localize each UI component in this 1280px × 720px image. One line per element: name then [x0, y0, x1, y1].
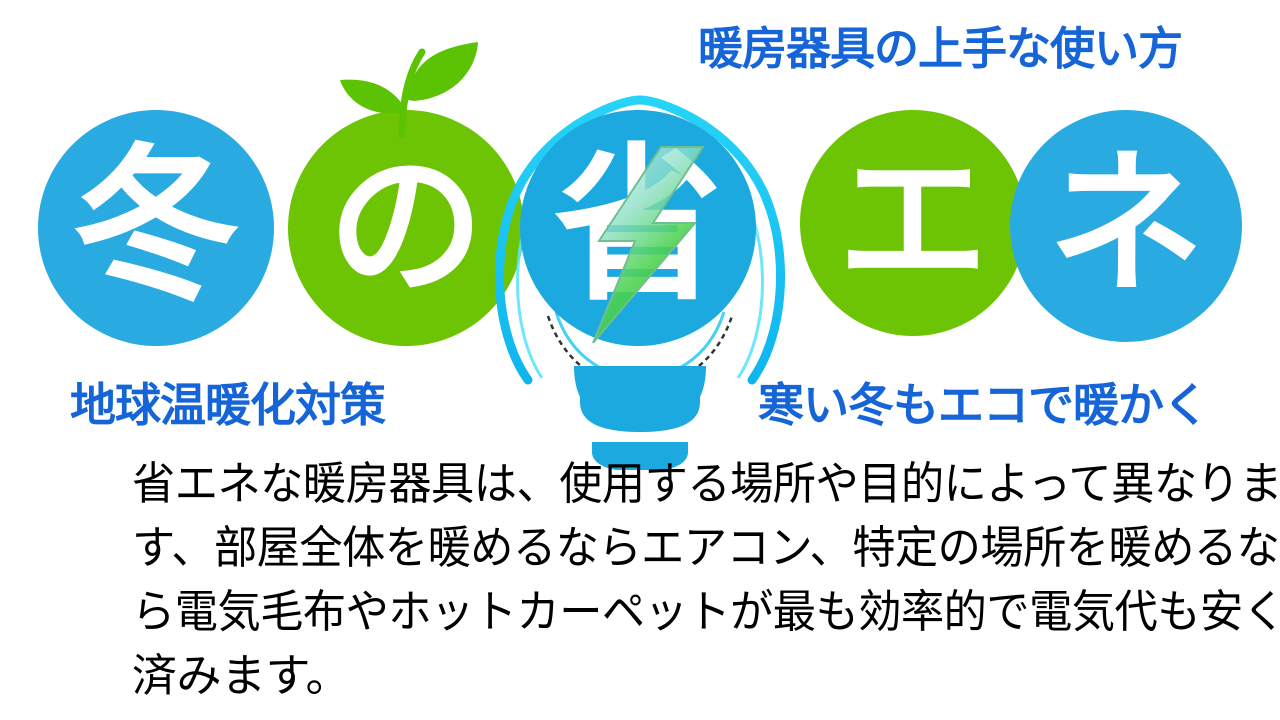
body-line-3: ら電気毛布やホットカーペットが最も効率的で電気代も安く	[132, 580, 1169, 644]
circle-ne-char: ネ	[1048, 146, 1204, 302]
body-paragraph: 省エネな暖房器具は、使用する場所や目的によって異なりま す、部屋全体を暖めるなら…	[132, 452, 1212, 708]
body-line-2: す、部屋全体を暖めるならエアコン、特定の場所を暖めるな	[132, 516, 1169, 580]
body-line-4: 済みます。	[132, 644, 1212, 708]
circle-sho: 省	[520, 110, 756, 346]
body-line-1: 省エネな暖房器具は、使用する場所や目的によって異なりま	[132, 452, 1169, 516]
circle-ne: ネ	[1010, 110, 1242, 342]
poster-canvas: 暖房器具の上手な使い方 冬 の	[0, 0, 1280, 720]
sprout-leaf-icon	[330, 28, 500, 138]
subheading-right: 寒い冬もエコで暖かく	[758, 382, 1208, 428]
subheading-left: 地球温暖化対策	[70, 382, 385, 428]
circle-fuyu: 冬	[38, 110, 274, 346]
circle-no: の	[288, 110, 524, 346]
circle-sho-char: 省	[554, 142, 722, 310]
circle-no-char: の	[328, 148, 484, 304]
circle-fuyu-char: 冬	[72, 142, 240, 310]
circle-e-char: エ	[838, 146, 988, 296]
circle-e: エ	[800, 110, 1026, 336]
